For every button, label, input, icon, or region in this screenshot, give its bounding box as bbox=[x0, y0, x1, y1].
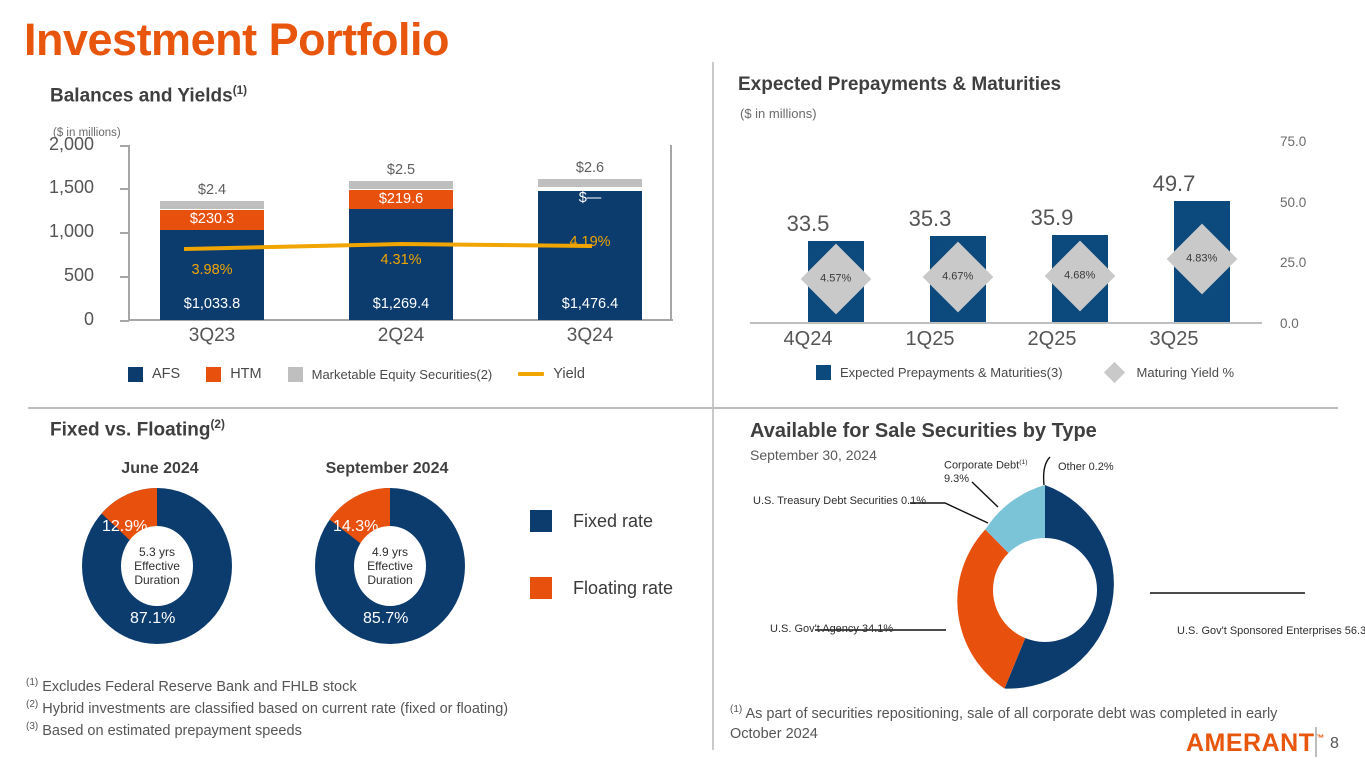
footnotes-left: (1) Excludes Federal Reserve Bank and FH… bbox=[26, 676, 508, 742]
chart2-legend-item-maturing-yield[interactable]: Maturing Yield % bbox=[1107, 365, 1235, 380]
chart4-donut-svg bbox=[740, 455, 1360, 705]
footnote-left-3: (3) Based on estimated prepayment speeds bbox=[26, 720, 508, 742]
footnote-left-1-mark: (1) bbox=[26, 677, 38, 688]
logo-separator bbox=[1315, 727, 1317, 757]
donut-september-2024[interactable]: 4.9 yrs Effective Duration 14.3% 85.7% bbox=[315, 488, 465, 644]
chart2-value-3Q25: 49.7 bbox=[1119, 171, 1229, 197]
chart2-xlabel-4Q24: 4Q24 bbox=[753, 328, 863, 351]
donut-june-label-fixed: 87.1% bbox=[130, 610, 175, 628]
chart4-donut-hole bbox=[993, 538, 1097, 642]
chart2-ylabel-25: 25.0 bbox=[1280, 255, 1306, 270]
chart1-legend-item-marketable-equity-securities[interactable]: Marketable Equity Securities(2) bbox=[288, 367, 493, 382]
units-label-prepayments: ($ in millions) bbox=[740, 106, 817, 121]
chart-expected-prepayments-maturities: 0.0 25.0 50.0 75.0 4.57% 4.67% 4.68% 4 bbox=[740, 120, 1340, 395]
footnote-left-3-text: Based on estimated prepayment speeds bbox=[42, 723, 302, 739]
chart1-legend-label-yield: Yield bbox=[553, 366, 585, 382]
donut-september-center-line-0: 4.9 yrs bbox=[372, 545, 408, 559]
footnote-right-mark: (1) bbox=[730, 704, 742, 715]
donut-september-center-label: 4.9 yrs Effective Duration bbox=[354, 526, 426, 606]
donut-title-september-2024: September 2024 bbox=[302, 460, 472, 478]
chart2-value-4Q24: 33.5 bbox=[753, 211, 863, 237]
chart3-legend-label-floating-rate: Floating rate bbox=[573, 578, 673, 599]
donut-june-label-floating: 12.9% bbox=[102, 518, 147, 536]
donut-june-center-line-1: Effective bbox=[134, 559, 180, 573]
chart4-callout-corporate-debt-note: (1) bbox=[1019, 459, 1027, 466]
chart1-ylabel-500: 500 bbox=[64, 265, 94, 286]
chart1-legend-swatch-afs bbox=[128, 367, 143, 382]
chart1-legend-swatch-htm bbox=[206, 367, 221, 382]
chart-afs-securities-by-type: U.S. Gov't Sponsored Enterprises 56.3% U… bbox=[740, 455, 1360, 705]
chart2-ylabel-50: 50.0 bbox=[1280, 195, 1306, 210]
chart4-callout-corporate-debt-text: Corporate Debt bbox=[944, 460, 1019, 472]
slide-root: Investment Portfolio Balances and Yields… bbox=[0, 0, 1365, 768]
donut-september-center-line-2: Duration bbox=[367, 573, 412, 587]
chart1-legend-item-yield[interactable]: Yield bbox=[518, 366, 585, 382]
chart3-legend-swatch-floating-rate bbox=[530, 577, 552, 599]
chart4-callout-us-govt-sponsored-enterprises: U.S. Gov't Sponsored Enterprises 56.3% bbox=[1177, 625, 1365, 639]
donut-june-center-line-2: Duration bbox=[134, 573, 179, 587]
panel-title-balances-text: Balances and Yields bbox=[50, 85, 233, 106]
chart2-diamond-label-3Q25: 4.83% bbox=[1186, 253, 1217, 265]
chart2-diamond-label-2Q25: 4.68% bbox=[1064, 270, 1095, 282]
donut-september-label-floating: 14.3% bbox=[333, 518, 378, 536]
horizontal-divider bbox=[28, 407, 1338, 409]
chart1-legend-item-htm[interactable]: HTM bbox=[206, 366, 261, 382]
donut-september-center-line-1: Effective bbox=[367, 559, 413, 573]
chart4-leader-other bbox=[1044, 457, 1050, 485]
chart1-xlabel-3Q24: 3Q24 bbox=[538, 325, 642, 347]
footnote-left-1-text: Excludes Federal Reserve Bank and FHLB s… bbox=[42, 679, 356, 695]
chart1-legend-item-afs[interactable]: AFS bbox=[128, 366, 180, 382]
chart2-xlabel-1Q25: 1Q25 bbox=[875, 328, 985, 351]
chart2-legend: Expected Prepayments & Maturities(3) Mat… bbox=[816, 365, 1234, 380]
donut-june-center-label: 5.3 yrs Effective Duration bbox=[121, 526, 193, 606]
chart1-ylabel-2000: 2,000 bbox=[49, 134, 94, 155]
chart1-yield-line bbox=[128, 145, 673, 320]
donut-september-label-fixed: 85.7% bbox=[363, 610, 408, 628]
chart2-diamond-label-4Q24: 4.57% bbox=[820, 273, 851, 285]
chart3-legend-label-fixed-rate: Fixed rate bbox=[573, 511, 653, 532]
chart2-xlabel-3Q25: 3Q25 bbox=[1119, 328, 1229, 351]
chart1-legend-label-marketable-equity-securities: Marketable Equity Securities bbox=[312, 367, 477, 382]
chart-fixed-vs-floating: June 2024 5.3 yrs Effective Duration 12.… bbox=[50, 420, 700, 660]
panel-title-balances-and-yields: Balances and Yields(1) bbox=[50, 84, 247, 107]
chart4-callout-us-treasury-debt-securities: U.S. Treasury Debt Securities 0.1% bbox=[753, 495, 926, 509]
panel-title-afs-by-type: Available for Sale Securities by Type bbox=[750, 420, 1097, 443]
amerant-logo: AMERANT™ bbox=[1186, 729, 1325, 758]
chart2-value-1Q25: 35.3 bbox=[875, 206, 985, 232]
chart1-ytick-0 bbox=[120, 320, 129, 322]
chart3-legend-item-floating-rate[interactable]: Floating rate bbox=[530, 577, 673, 599]
page-number: 8 bbox=[1330, 735, 1339, 753]
chart1-xlabel-3Q23: 3Q23 bbox=[160, 325, 264, 347]
chart2-legend-swatch-expected-prepayments bbox=[816, 365, 831, 380]
vertical-divider bbox=[712, 62, 714, 750]
chart2-legend-swatch-maturing-yield bbox=[1103, 362, 1124, 383]
chart1-legend-label-htm: HTM bbox=[230, 366, 261, 382]
chart1-legend-swatch-marketable-equity-securities bbox=[288, 367, 303, 382]
chart2-legend-label-maturing-yield: Maturing Yield % bbox=[1137, 365, 1235, 380]
footnote-left-1: (1) Excludes Federal Reserve Bank and FH… bbox=[26, 676, 508, 698]
panel-title-balances-note: (1) bbox=[233, 84, 247, 97]
chart1-ylabel-0: 0 bbox=[84, 309, 94, 330]
chart1-ylabel-1000: 1,000 bbox=[49, 221, 94, 242]
chart2-xlabel-2Q25: 2Q25 bbox=[997, 328, 1107, 351]
chart2-legend-label-expected-prepayments: Expected Prepayments & Maturities bbox=[840, 365, 1047, 380]
chart2-ylabel-75: 75.0 bbox=[1280, 134, 1306, 149]
chart4-callout-corporate-debt: Corporate Debt(1) 9.3% bbox=[944, 459, 1028, 487]
chart2-legend-item-expected-prepayments[interactable]: Expected Prepayments & Maturities(3) bbox=[816, 365, 1063, 380]
chart2-x-axis-line bbox=[750, 322, 1262, 324]
footnote-left-2-text: Hybrid investments are classified based … bbox=[42, 701, 508, 717]
chart1-legend: AFS HTM Marketable Equity Securities(2) … bbox=[128, 366, 585, 382]
chart1-ylabel-1500: 1,500 bbox=[49, 177, 94, 198]
chart1-legend-label-afs: AFS bbox=[152, 366, 180, 382]
page-title: Investment Portfolio bbox=[24, 16, 449, 63]
chart1-xlabel-2Q24: 2Q24 bbox=[349, 325, 453, 347]
footnote-left-3-mark: (3) bbox=[26, 721, 38, 732]
chart1-legend-swatch-yield bbox=[518, 372, 544, 376]
donut-june-2024[interactable]: 5.3 yrs Effective Duration 12.9% 87.1% bbox=[82, 488, 232, 644]
amerant-logo-text: AMERANT bbox=[1186, 729, 1315, 757]
chart2-value-2Q25: 35.9 bbox=[997, 205, 1107, 231]
chart3-legend-swatch-fixed-rate bbox=[530, 510, 552, 532]
chart2-diamond-label-1Q25: 4.67% bbox=[942, 271, 973, 283]
chart4-callout-us-govt-agency: U.S. Gov't Agency 34.1% bbox=[770, 623, 893, 637]
chart4-callout-corporate-debt-pct: 9.3% bbox=[944, 473, 969, 485]
footnote-left-2: (2) Hybrid investments are classified ba… bbox=[26, 698, 508, 720]
donut-title-june-2024: June 2024 bbox=[75, 460, 245, 478]
footnote-left-2-mark: (2) bbox=[26, 699, 38, 710]
donut-june-center-line-0: 5.3 yrs bbox=[139, 545, 175, 559]
chart2-ylabel-0: 0.0 bbox=[1280, 316, 1299, 331]
chart3-legend-item-fixed-rate[interactable]: Fixed rate bbox=[530, 510, 653, 532]
panel-title-expected-prepayments: Expected Prepayments & Maturities bbox=[738, 74, 1061, 96]
chart2-legend-note-expected-prepayments: (3) bbox=[1047, 365, 1063, 380]
chart4-callout-other: Other 0.2% bbox=[1058, 461, 1114, 475]
chart1-legend-note-marketable-equity-securities: (2) bbox=[476, 367, 492, 382]
chart-balances-and-yields: 0 500 1,000 1,500 2,000 $1,033.8 3.98% $… bbox=[50, 128, 690, 393]
